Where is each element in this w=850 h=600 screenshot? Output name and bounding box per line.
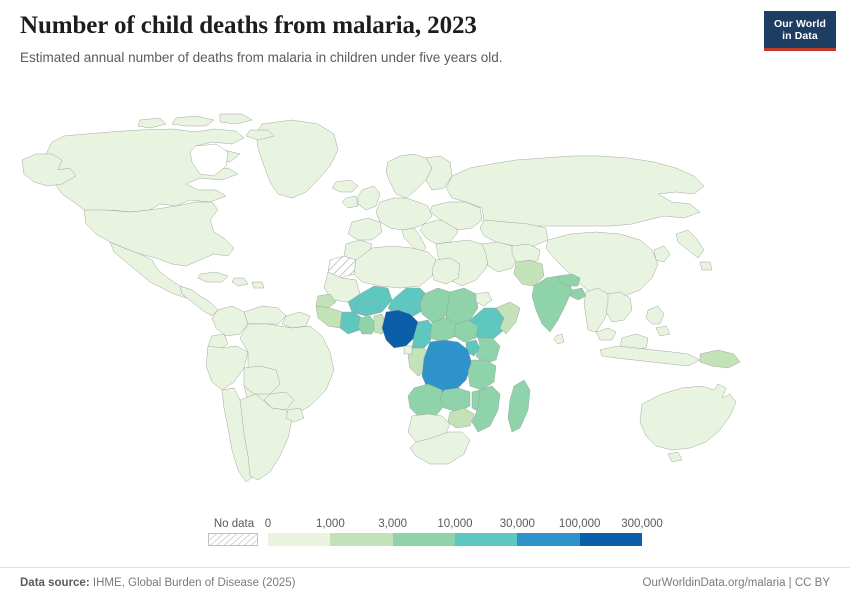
legend-bin-1[interactable] [330, 533, 392, 546]
legend-bin-5[interactable] [580, 533, 642, 546]
owid-logo-line1: Our World [774, 18, 826, 30]
legend-bin-3[interactable] [455, 533, 517, 546]
data-source-text: IHME, Global Burden of Disease (2025) [93, 577, 296, 589]
data-source: Data source: IHME, Global Burden of Dise… [20, 577, 296, 589]
country-russia[interactable] [446, 156, 704, 226]
map-legend: No data 01,0003,00010,00030,000100,00030… [0, 505, 850, 551]
legend-bin-2[interactable] [393, 533, 455, 546]
page-subtitle: Estimated annual number of deaths from m… [20, 49, 830, 67]
legend-tick-6: 300,000 [621, 518, 663, 530]
legend-tick-5: 100,000 [559, 518, 601, 530]
legend-tick-0: 0 [265, 518, 271, 530]
chart-frame: Number of child deaths from malaria, 202… [0, 0, 850, 600]
legend-no-data-swatch[interactable] [208, 533, 258, 546]
legend-bin-0[interactable] [268, 533, 330, 546]
legend-ticks: 01,0003,00010,00030,000100,000300,000 [0, 518, 850, 532]
legend-bins[interactable] [268, 533, 642, 546]
world-map[interactable] [0, 98, 850, 498]
page-title: Number of child deaths from malaria, 202… [20, 12, 830, 40]
license-text[interactable]: OurWorldinData.org/malaria | CC BY [643, 577, 830, 589]
legend-tick-1: 1,000 [316, 518, 345, 530]
legend-tick-4: 30,000 [500, 518, 535, 530]
chart-footer: Data source: IHME, Global Burden of Dise… [0, 567, 850, 600]
legend-tick-3: 10,000 [437, 518, 472, 530]
owid-logo[interactable]: Our World in Data [764, 11, 836, 51]
data-source-label: Data source: [20, 577, 90, 589]
legend-bin-4[interactable] [517, 533, 579, 546]
legend-tick-2: 3,000 [378, 518, 407, 530]
chart-header: Number of child deaths from malaria, 202… [20, 12, 830, 67]
owid-logo-line2: in Data [782, 30, 818, 42]
country-algeria-libya[interactable] [354, 246, 436, 288]
country-equatorial-guinea[interactable] [404, 346, 412, 354]
